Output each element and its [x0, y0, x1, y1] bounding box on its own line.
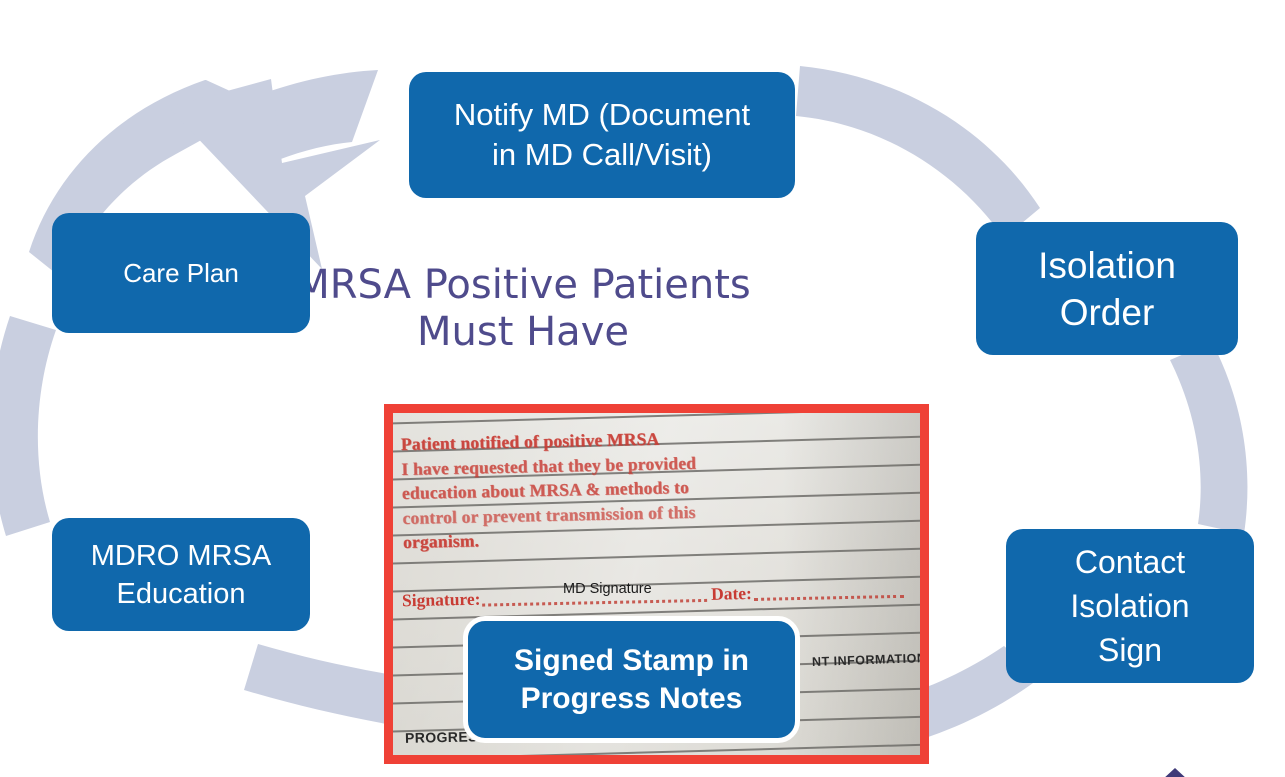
- cycle-node-notify-md[interactable]: Notify MD (Document in MD Call/Visit): [409, 72, 795, 198]
- mrsa-notification-stamp: Patient notified of positive MRSA I have…: [401, 422, 878, 554]
- date-rule: [754, 595, 904, 601]
- date-label: Date:: [711, 583, 752, 605]
- arrow-notify-isolation: [796, 66, 1040, 238]
- slide-canvas: Patient notified of positive MRSA I have…: [0, 0, 1285, 777]
- cycle-node-contact-isolation-sign[interactable]: Contact Isolation Sign: [1006, 529, 1254, 683]
- signature-label: Signature:: [402, 589, 481, 612]
- cycle-node-mdro-education[interactable]: MDRO MRSA Education: [52, 518, 310, 631]
- arrow-mdro-careplan: [0, 316, 56, 536]
- cycle-node-care-plan[interactable]: Care Plan: [52, 213, 310, 333]
- cycle-node-isolation-order[interactable]: Isolation Order: [976, 222, 1238, 355]
- arrow-isolation-contact: [1170, 342, 1247, 534]
- clipped-logo-tip-icon: [1162, 768, 1188, 777]
- cycle-node-signed-stamp[interactable]: Signed Stamp in Progress Notes: [463, 616, 800, 743]
- signature-rule: [483, 599, 708, 607]
- page-title: MRSA Positive Patients Must Have: [288, 262, 758, 356]
- md-signature-annotation: MD Signature: [563, 581, 652, 597]
